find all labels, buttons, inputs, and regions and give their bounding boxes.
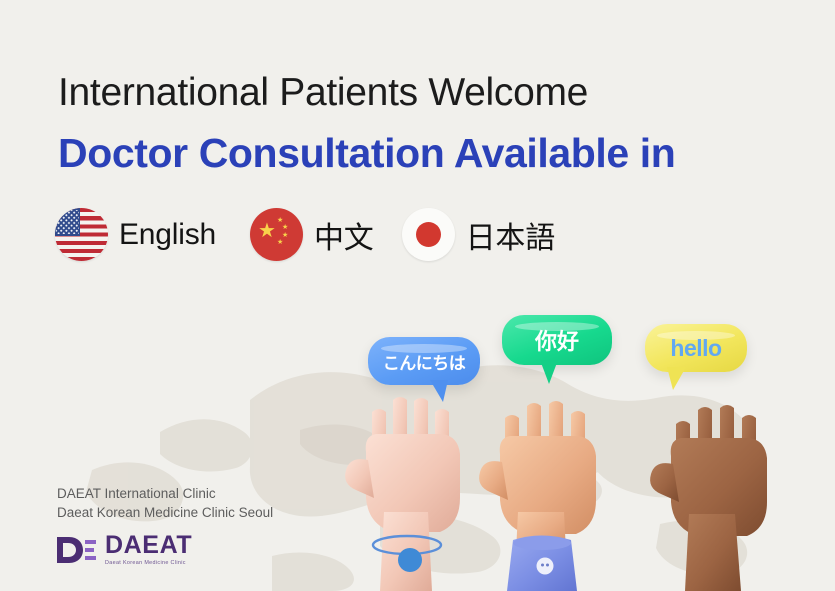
language-label-english: English <box>119 218 216 252</box>
language-list: English ★ ★ ★ ★ ★ 中文 日本語 <box>55 208 555 261</box>
headline-primary: International Patients Welcome <box>58 68 798 118</box>
daeat-logo-wordmark: DAEAT <box>105 533 192 558</box>
waving-hand-dark <box>650 405 767 591</box>
speech-bubble-english: hello <box>645 324 747 372</box>
waving-hand-medium <box>479 401 596 591</box>
language-label-chinese: 中文 <box>314 213 374 257</box>
speech-bubble-english-text: hello <box>670 335 721 362</box>
poster-canvas: International Patients Welcome Doctor Co… <box>0 0 835 591</box>
daeat-logo-tagline: Daeat Korean Medicine Clinic <box>105 560 192 566</box>
cn-flag-icon: ★ ★ ★ ★ ★ <box>250 208 303 261</box>
waving-hand-light <box>345 397 460 591</box>
language-item-english: English <box>55 208 216 261</box>
language-item-japanese: 日本語 <box>402 208 555 261</box>
clinic-name-block: DAEAT International Clinic Daeat Korean … <box>57 484 273 522</box>
language-label-japanese: 日本語 <box>466 213 555 257</box>
speech-bubble-japanese-text: こんにちは <box>383 349 466 374</box>
language-item-chinese: ★ ★ ★ ★ ★ 中文 <box>250 208 374 261</box>
speech-bubble-chinese: 你好 <box>502 315 612 365</box>
jp-flag-icon <box>402 208 455 261</box>
us-flag-icon <box>55 208 108 261</box>
headline-secondary: Doctor Consultation Available in <box>58 125 798 181</box>
speech-bubble-chinese-text: 你好 <box>535 324 579 356</box>
daeat-logo-mark <box>55 535 97 565</box>
headline-block: International Patients Welcome Doctor Co… <box>58 68 798 181</box>
daeat-logo: DAEAT Daeat Korean Medicine Clinic <box>55 533 192 566</box>
blue-sleeve-cuff <box>507 536 577 591</box>
clinic-name-line-2: Daeat Korean Medicine Clinic Seoul <box>57 503 273 522</box>
speech-bubble-japanese: こんにちは <box>368 337 480 385</box>
clinic-name-line-1: DAEAT International Clinic <box>57 484 273 503</box>
